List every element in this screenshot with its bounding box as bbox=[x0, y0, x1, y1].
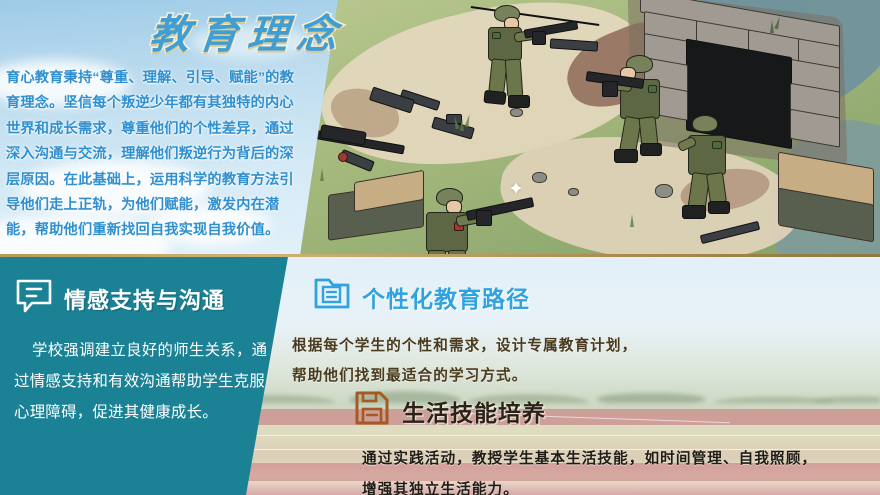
section-divider bbox=[0, 254, 880, 257]
section-emotional-support: 情感支持与沟通 学校强调建立良好的师生关系，通过情感支持和有效沟通帮助学生克服心… bbox=[14, 276, 274, 428]
section-heading-row: 生活技能培养 bbox=[352, 388, 872, 433]
section-personalized-path: 个性化教育路径 根据每个学生的个性和需求，设计专属教育计划， 帮助他们找到最适合… bbox=[312, 274, 812, 391]
section-life-skills: 生活技能培养 通过实践活动，教授学生基本生活技能，如时间管理、自我照顾， 增强其… bbox=[352, 388, 872, 495]
save-document-icon bbox=[352, 388, 392, 433]
section-title: 情感支持与沟通 bbox=[64, 283, 225, 315]
section-title: 个性化教育路径 bbox=[362, 280, 530, 314]
section-body-line: 增强其独立生活能力。 bbox=[362, 474, 872, 495]
intro-paragraph: 育心教育秉持“尊重、理解、引导、赋能”的教育理念。坚信每个叛逆少年都有其独特的内… bbox=[6, 66, 302, 244]
section-heading-row: 个性化教育路径 bbox=[312, 274, 812, 319]
section-body-line: 通过实践活动，教授学生基本生活技能，如时间管理、自我照顾， bbox=[362, 443, 872, 474]
section-body: 学校强调建立良好的师生关系，通过情感支持和有效沟通帮助学生克服心理障碍，促进其健… bbox=[14, 335, 274, 428]
folder-document-icon bbox=[312, 274, 352, 319]
section-body-line: 根据每个学生的个性和需求，设计专属教育计划， bbox=[292, 331, 812, 361]
poster-title: 教育理念 bbox=[147, 2, 349, 60]
spark-decoration: ✦ bbox=[508, 180, 524, 199]
rocket-tip bbox=[338, 152, 348, 162]
section-title: 生活技能培养 bbox=[402, 394, 546, 428]
section-body-line: 帮助他们找到最适合的学习方式。 bbox=[292, 361, 812, 391]
military-training-illustration: ✦ bbox=[300, 0, 880, 256]
poster-canvas: ✦ 教育理念 育心教育秉持“尊重、理解、引导、赋能”的教育理念。坚信每个叛逆少年… bbox=[0, 0, 880, 495]
section-heading-row: 情感支持与沟通 bbox=[14, 276, 274, 321]
speech-bubble-icon bbox=[14, 276, 54, 321]
